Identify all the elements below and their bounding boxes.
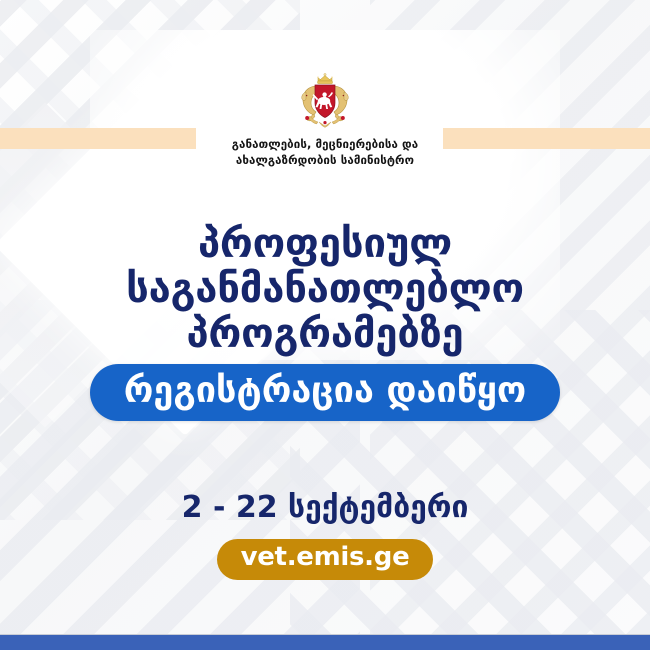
- headline-line-1: პროფესიულ: [0, 222, 650, 267]
- highlight-pill-container: რეგისტრაცია დაიწყო: [0, 364, 650, 421]
- website-url-badge[interactable]: vet.emis.ge: [217, 539, 434, 580]
- ministry-name-line-1: განათლების, მეცნიერებისა და: [232, 136, 418, 152]
- url-badge-container: vet.emis.ge: [0, 539, 650, 580]
- ministry-name: განათლების, მეცნიერებისა და ახალგაზრდობი…: [226, 134, 424, 171]
- headline-line-3: პროგრამებზე: [0, 312, 650, 357]
- ministry-identity-block: განათლების, მეცნიერებისა და ახალგაზრდობი…: [0, 72, 650, 171]
- georgia-coat-of-arms-icon: [298, 72, 352, 128]
- ministry-name-line-2: ახალგაზრდობის სამინისტრო: [232, 152, 418, 168]
- headline-line-2: საგანმანათლებლო: [0, 267, 650, 312]
- registration-open-pill: რეგისტრაცია დაიწყო: [90, 364, 560, 421]
- background-chevron-bottom-right: [290, 310, 650, 650]
- poster-canvas: განათლების, მეცნიერებისა და ახალგაზრდობი…: [0, 0, 650, 650]
- date-range: 2 - 22 სექტემბერი: [0, 491, 650, 524]
- headline: პროფესიულ საგანმანათლებლო პროგრამებზე: [0, 222, 650, 358]
- bottom-accent-bar: [0, 635, 650, 650]
